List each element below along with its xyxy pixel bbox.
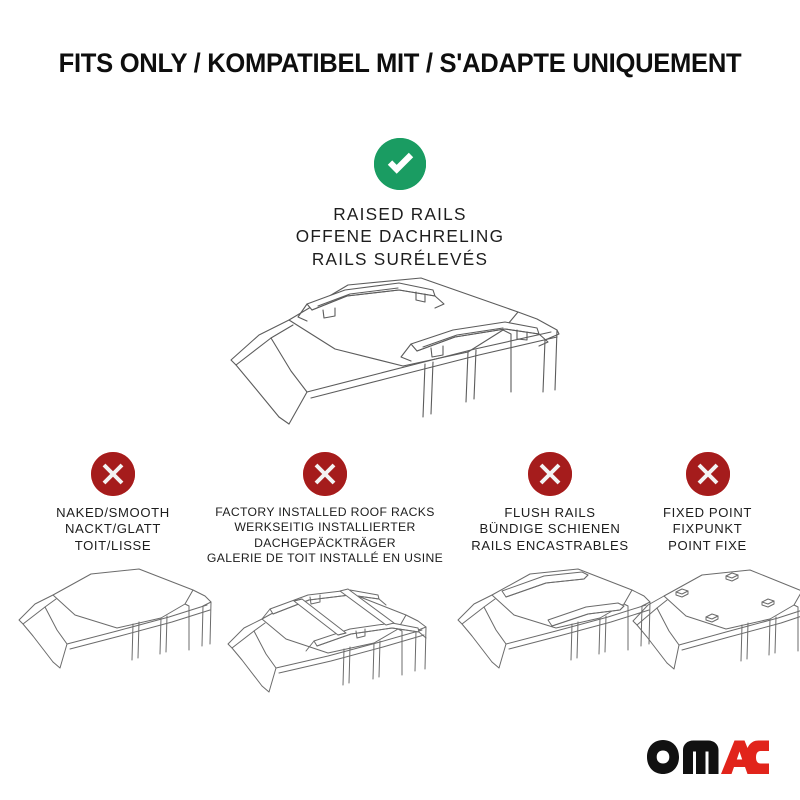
x-circle-icon [303,452,347,496]
check-mark-icon [374,138,426,190]
x-circle-icon [686,452,730,496]
label-de: BÜNDIGE SCHIENEN [452,521,648,537]
incompatible-item-flush-rails: FLUSH RAILS BÜNDIGE SCHIENEN RAILS ENCAS… [452,452,648,710]
smooth-roof-drawing [13,560,213,705]
x-mark-icon [528,452,572,496]
check-circle-icon [374,138,426,190]
label-de-1: WERKSEITIG INSTALLIERTER [205,520,445,535]
incompatible-labels: FACTORY INSTALLED ROOF RACKS WERKSEITIG … [205,505,445,567]
compatible-label-de: OFFENE DACHRELING [0,225,800,247]
label-de-2: DACHGEPÄCKTRÄGER [205,536,445,551]
car-roof-with-flush-rails-illustration [452,560,648,710]
label-en: NAKED/SMOOTH [13,505,213,521]
label-en: FIXED POINT [630,505,785,521]
label-de: FIXPUNKT [630,521,785,537]
incompatible-labels: FLUSH RAILS BÜNDIGE SCHIENEN RAILS ENCAS… [452,505,648,554]
incompatible-item-fixed-point: FIXED POINT FIXPUNKT POINT FIXE [630,452,785,710]
label-fr: GALERIE DE TOIT INSTALLÉ EN USINE [205,551,445,566]
label-en: FLUSH RAILS [452,505,648,521]
logo-letter-c [746,741,769,775]
car-roof-with-fixed-points-illustration [630,560,785,710]
page-title: FITS ONLY / KOMPATIBEL MIT / S'ADAPTE UN… [14,48,786,79]
incompatible-item-factory-installed-roof-racks: FACTORY INSTALLED ROOF RACKS WERKSEITIG … [205,452,445,728]
factory-rack-drawing [210,573,440,723]
compatible-label-fr: RAILS SURÉLEVÉS [0,248,800,270]
car-roof-with-raised-rails-illustration [185,272,615,457]
fixed-point-drawing [630,560,800,705]
header: FITS ONLY / KOMPATIBEL MIT / S'ADAPTE UN… [0,48,800,79]
raised-rails-drawing [185,272,615,457]
x-circle-icon [528,452,572,496]
x-mark-icon [91,452,135,496]
x-mark-icon [686,452,730,496]
incompatible-section: NAKED/SMOOTH NACKT/GLATT TOIT/LISSE [0,452,800,752]
fitment-infographic: FITS ONLY / KOMPATIBEL MIT / S'ADAPTE UN… [0,0,800,800]
x-mark-icon [303,452,347,496]
compatible-label-en: RAISED RAILS [0,203,800,225]
incompatible-labels: FIXED POINT FIXPUNKT POINT FIXE [630,505,785,554]
x-circle-icon [91,452,135,496]
label-fr: TOIT/LISSE [13,538,213,554]
car-roof-smooth-illustration [13,560,213,710]
logo-letter-o [647,740,679,774]
incompatible-labels: NAKED/SMOOTH NACKT/GLATT TOIT/LISSE [13,505,213,554]
compatible-labels: RAISED RAILS OFFENE DACHRELING RAILS SUR… [0,203,800,270]
omac-logo-mark [646,738,770,778]
logo-letter-m [683,741,719,775]
car-roof-with-factory-crossbars-illustration [205,573,445,728]
incompatible-item-naked-smooth: NAKED/SMOOTH NACKT/GLATT TOIT/LISSE [13,452,213,710]
flush-rails-drawing [452,560,652,705]
omac-logo: OMAC [646,738,770,778]
label-fr: RAILS ENCASTRABLES [452,538,648,554]
label-de: NACKT/GLATT [13,521,213,537]
compatible-section: RAISED RAILS OFFENE DACHRELING RAILS SUR… [0,138,800,270]
label-en: FACTORY INSTALLED ROOF RACKS [205,505,445,520]
label-fr: POINT FIXE [630,538,785,554]
